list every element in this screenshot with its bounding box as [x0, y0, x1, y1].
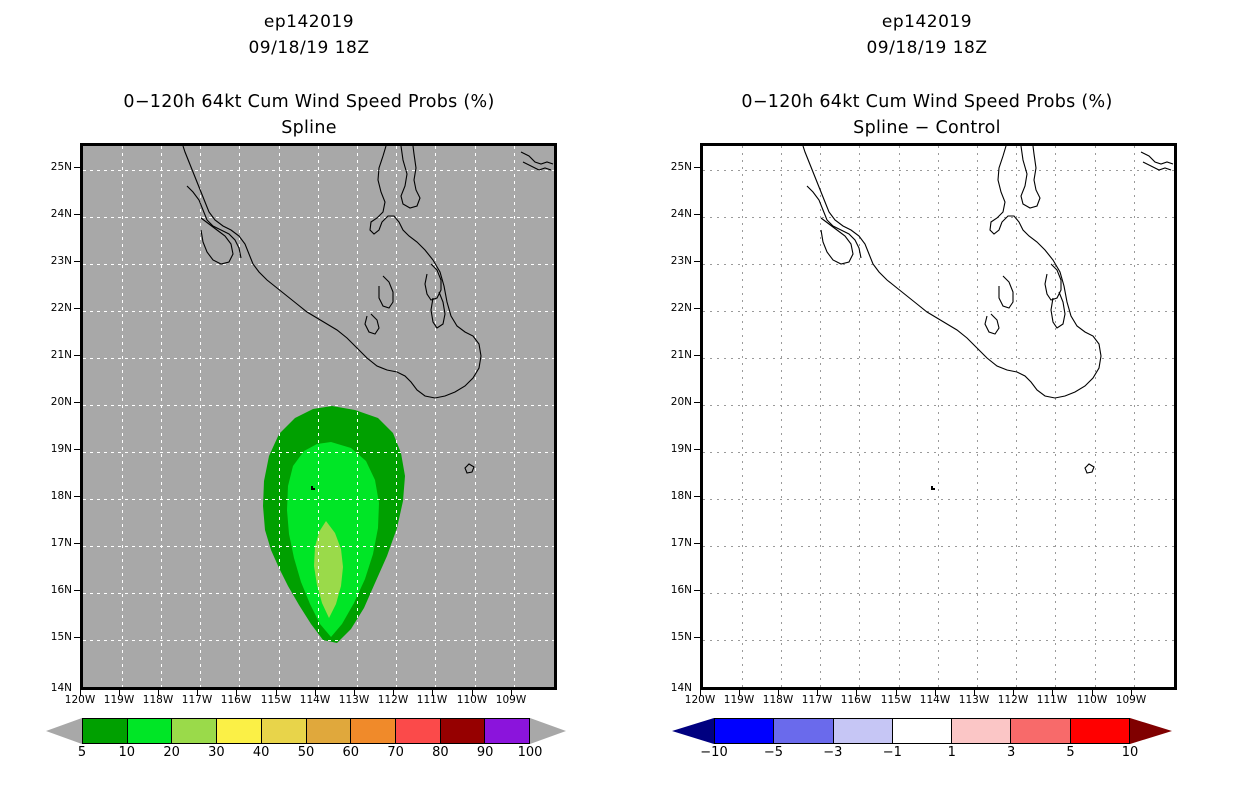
ytick-left-1: 24N	[38, 208, 72, 220]
ytick-right-10: 15N	[658, 631, 692, 643]
ytick-right-6: 19N	[658, 443, 692, 455]
ytick-left-6: 19N	[38, 443, 72, 455]
colorbar-right-segment-0	[714, 718, 773, 744]
colorbar-left-segment-9	[484, 718, 530, 744]
panel-right-subtitle: Spline − Control	[618, 118, 1236, 138]
ytick-left-10: 15N	[38, 631, 72, 643]
colorbar-left-segment-2	[171, 718, 216, 744]
colorbar-left-segment-8	[440, 718, 485, 744]
ytick-left-3: 22N	[38, 302, 72, 314]
colorbar-left-segment-3	[216, 718, 261, 744]
colorbar-left-bar	[82, 718, 530, 744]
ytick-right-11: 14N	[658, 682, 692, 694]
map-plot-left	[80, 143, 557, 690]
ytick-left-0: 25N	[38, 161, 72, 173]
ytick-right-4: 21N	[658, 349, 692, 361]
ytick-left-4: 21N	[38, 349, 72, 361]
colorbar-right-segment-3	[892, 718, 951, 744]
ytick-left-9: 16N	[38, 584, 72, 596]
colorbar-left-label-0: 5	[78, 745, 86, 760]
colorbar-left-segment-6	[350, 718, 395, 744]
ytick-left-11: 14N	[38, 682, 72, 694]
colorbar-right-label-3: −1	[883, 745, 902, 760]
ytick-right-7: 18N	[658, 490, 692, 502]
panel-left-subtitle: Spline	[0, 118, 618, 138]
colorbar-right-label-5: 3	[1007, 745, 1015, 760]
ytick-right-2: 23N	[658, 255, 692, 267]
colorbar-left-label-2: 20	[163, 745, 180, 760]
colorbar-right-segment-6	[1070, 718, 1130, 744]
ytick-left-2: 23N	[38, 255, 72, 267]
ytick-right-5: 20N	[658, 396, 692, 408]
colorbar-left-low-cap	[46, 718, 82, 744]
colorbar-right: −10−5−3−113510	[672, 718, 1172, 764]
colorbar-left-high-cap	[530, 718, 566, 744]
colorbar-left-label-9: 90	[477, 745, 494, 760]
colorbar-left-label-8: 80	[432, 745, 449, 760]
panel-right-title: 0−120h 64kt Cum Wind Speed Probs (%)	[618, 92, 1236, 112]
coastline-left	[83, 146, 554, 687]
ytick-right-3: 22N	[658, 302, 692, 314]
ytick-right-0: 25N	[658, 161, 692, 173]
colorbar-right-low-cap	[672, 718, 714, 744]
colorbar-right-high-cap	[1130, 718, 1172, 744]
panel-right-storm-id: ep142019	[618, 12, 1236, 32]
colorbar-right-segment-2	[833, 718, 892, 744]
colorbar-left: 5102030405060708090100	[46, 718, 566, 764]
colorbar-right-segment-4	[951, 718, 1010, 744]
colorbar-right-labels: −10−5−3−113510	[672, 745, 1172, 763]
ytick-left-7: 18N	[38, 490, 72, 502]
colorbar-left-segment-0	[82, 718, 127, 744]
colorbar-left-label-7: 70	[387, 745, 404, 760]
ytick-right-9: 16N	[658, 584, 692, 596]
colorbar-right-label-0: −10	[700, 745, 727, 760]
colorbar-right-label-1: −5	[764, 745, 783, 760]
colorbar-left-label-5: 50	[298, 745, 315, 760]
ytick-left-5: 20N	[38, 396, 72, 408]
panel-left-title: 0−120h 64kt Cum Wind Speed Probs (%)	[0, 92, 618, 112]
colorbar-left-labels: 5102030405060708090100	[46, 745, 566, 763]
colorbar-right-bar	[714, 718, 1130, 744]
panel-right-date: 09/18/19 18Z	[618, 38, 1236, 58]
colorbar-left-label-10: 100	[518, 745, 543, 760]
colorbar-left-label-4: 40	[253, 745, 270, 760]
colorbar-left-label-6: 60	[343, 745, 360, 760]
ytick-left-8: 17N	[38, 537, 72, 549]
colorbar-left-segment-4	[261, 718, 306, 744]
colorbar-left-label-3: 30	[208, 745, 225, 760]
colorbar-right-label-6: 5	[1066, 745, 1074, 760]
colorbar-right-segment-1	[773, 718, 832, 744]
colorbar-right-label-7: 10	[1122, 745, 1139, 760]
colorbar-right-label-4: 1	[948, 745, 956, 760]
map-plot-right	[700, 143, 1177, 690]
panel-left-storm-id: ep142019	[0, 12, 618, 32]
panel-left-date: 09/18/19 18Z	[0, 38, 618, 58]
colorbar-right-label-2: −3	[823, 745, 842, 760]
colorbar-left-label-1: 10	[119, 745, 136, 760]
colorbar-left-segment-1	[127, 718, 172, 744]
ytick-right-8: 17N	[658, 537, 692, 549]
colorbar-right-segment-5	[1010, 718, 1069, 744]
coastline-right	[703, 146, 1174, 687]
colorbar-left-segment-5	[306, 718, 351, 744]
ytick-right-1: 24N	[658, 208, 692, 220]
colorbar-left-segment-7	[395, 718, 440, 744]
